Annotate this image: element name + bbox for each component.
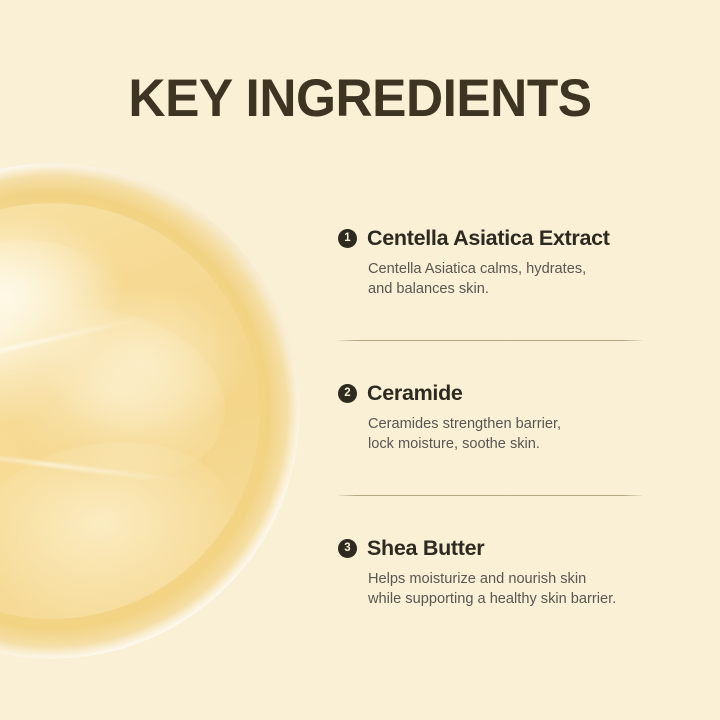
- ingredient-description-3: Helps moisturize and nourish skin while …: [368, 569, 648, 609]
- ingredient-name-1: Centella Asiatica Extract: [367, 226, 610, 251]
- key-ingredients-infographic: KEY INGREDIENTS 1 Centella Asiatica Extr…: [0, 0, 720, 720]
- ingredient-description-2: Ceramides strengthen barrier, lock moist…: [368, 414, 648, 454]
- number-badge-1: 1: [338, 229, 357, 248]
- divider-1: [338, 340, 642, 341]
- ingredient-item-1: 1 Centella Asiatica Extract Centella Asi…: [338, 226, 648, 299]
- product-jar-image: [0, 163, 300, 659]
- ingredient-name-3: Shea Butter: [367, 536, 484, 561]
- jar-outer-rim: [0, 163, 300, 659]
- ingredient-heading-row: 1 Centella Asiatica Extract: [338, 226, 648, 251]
- number-badge-3: 3: [338, 539, 357, 558]
- ingredient-heading-row: 3 Shea Butter: [338, 536, 648, 561]
- divider-2: [338, 495, 642, 496]
- ingredient-item-2: 2 Ceramide Ceramides strengthen barrier,…: [338, 381, 648, 454]
- page-title: KEY INGREDIENTS: [11, 68, 709, 129]
- ingredient-description-1: Centella Asiatica calms, hydrates, and b…: [368, 259, 648, 299]
- ingredient-heading-row: 2 Ceramide: [338, 381, 648, 406]
- ingredient-list: 1 Centella Asiatica Extract Centella Asi…: [338, 226, 648, 609]
- number-badge-2: 2: [338, 384, 357, 403]
- ingredient-item-3: 3 Shea Butter Helps moisturize and nouri…: [338, 536, 648, 609]
- ingredient-name-2: Ceramide: [367, 381, 463, 406]
